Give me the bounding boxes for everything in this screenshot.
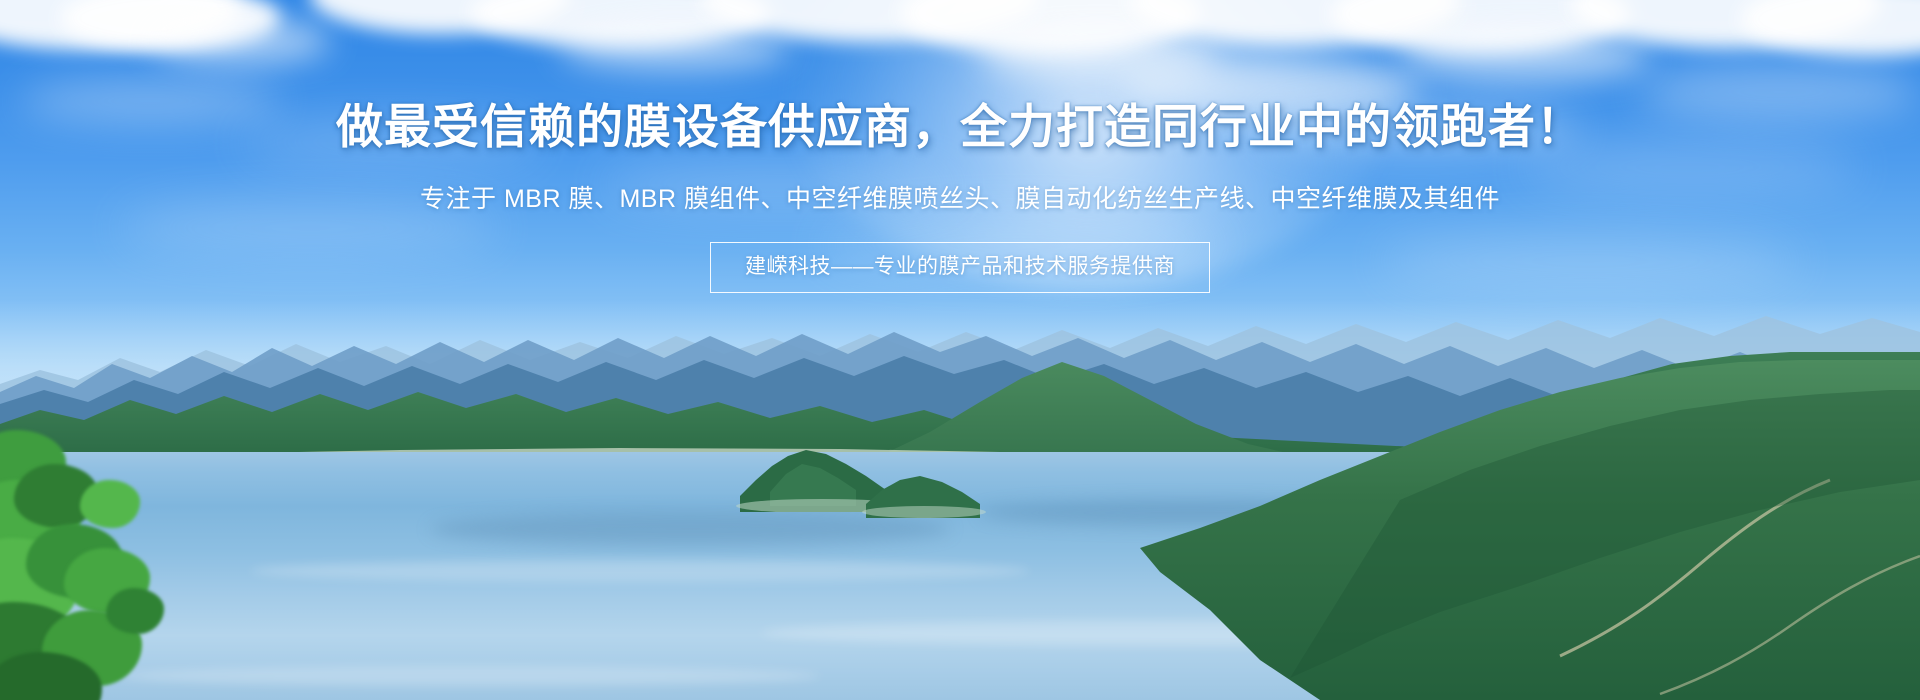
hero-banner: 做最受信赖的膜设备供应商，全力打造同行业中的领跑者！ 专注于 MBR 膜、MBR…	[0, 0, 1920, 700]
banner-tagline-box: 建嵘科技——专业的膜产品和技术服务提供商	[710, 242, 1210, 293]
banner-tagline-wrapper: 建嵘科技——专业的膜产品和技术服务提供商	[0, 242, 1920, 293]
banner-text-overlay: 做最受信赖的膜设备供应商，全力打造同行业中的领跑者！ 专注于 MBR 膜、MBR…	[0, 0, 1920, 700]
banner-subline: 专注于 MBR 膜、MBR 膜组件、中空纤维膜喷丝头、膜自动化纺丝生产线、中空纤…	[0, 182, 1920, 217]
banner-headline: 做最受信赖的膜设备供应商，全力打造同行业中的领跑者！	[0, 98, 1920, 157]
